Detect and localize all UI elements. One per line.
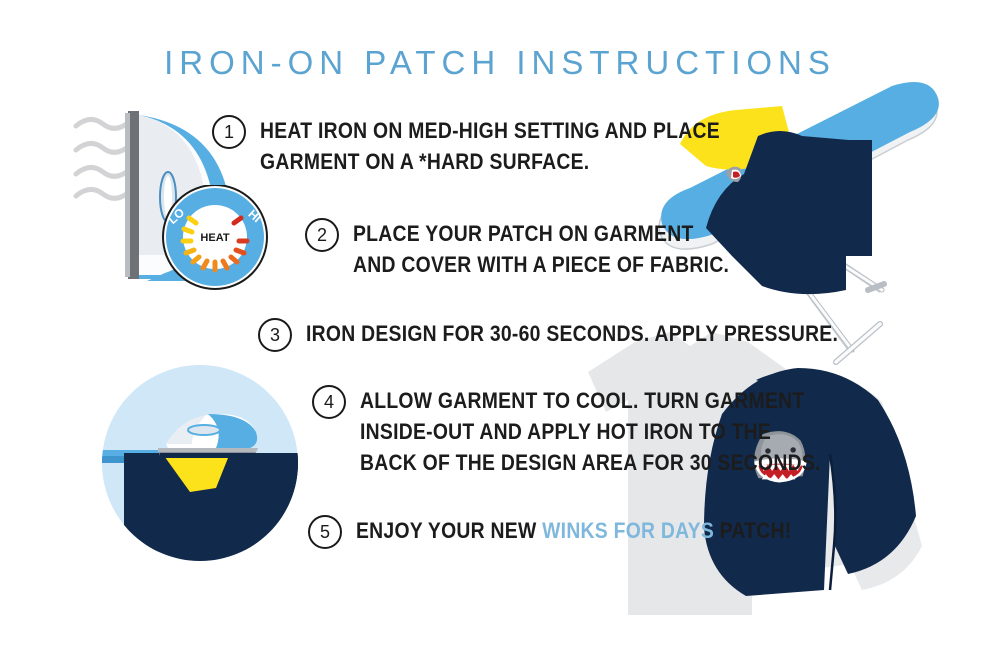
step-4-number: 4 (312, 385, 346, 419)
step-4-text: Allow garment to cool. turn garment insi… (360, 385, 821, 479)
step-1-text: Heat iron on MED-HIGH setting and place … (260, 115, 720, 177)
step-5-number: 5 (308, 515, 342, 549)
infographic-page: IRON-ON PATCH INSTRUCTIONS (0, 0, 1000, 666)
step-1: 1 Heat iron on MED-HIGH setting and plac… (212, 115, 783, 177)
step-4: 4 Allow garment to cool. turn garment in… (312, 385, 883, 479)
step-2-text: Place your patch on garment and cover wi… (353, 218, 729, 280)
brand-name: Winks For Days (542, 518, 714, 543)
step-3: 3 Iron design for 30-60 seconds. apply p… (258, 318, 911, 352)
step-5-prefix: Enjoy your new (356, 518, 542, 543)
page-title: IRON-ON PATCH INSTRUCTIONS (0, 44, 1000, 82)
step-1-number: 1 (212, 115, 246, 149)
heat-dial-icon: HEAT LO HI (148, 185, 283, 293)
step-5: 5 Enjoy your new Winks For Days patch! (308, 515, 851, 549)
step-2-number: 2 (305, 218, 339, 252)
pressing-iron-circle-icon (88, 352, 313, 574)
dial-center-label: HEAT (200, 232, 229, 244)
step-5-text: Enjoy your new Winks For Days patch! (356, 515, 791, 546)
step-3-number: 3 (258, 318, 292, 352)
step-2: 2 Place your patch on garment and cover … (305, 218, 781, 280)
step-3-text: Iron design for 30-60 seconds. apply pre… (306, 318, 838, 349)
step-5-suffix: patch! (714, 518, 791, 543)
